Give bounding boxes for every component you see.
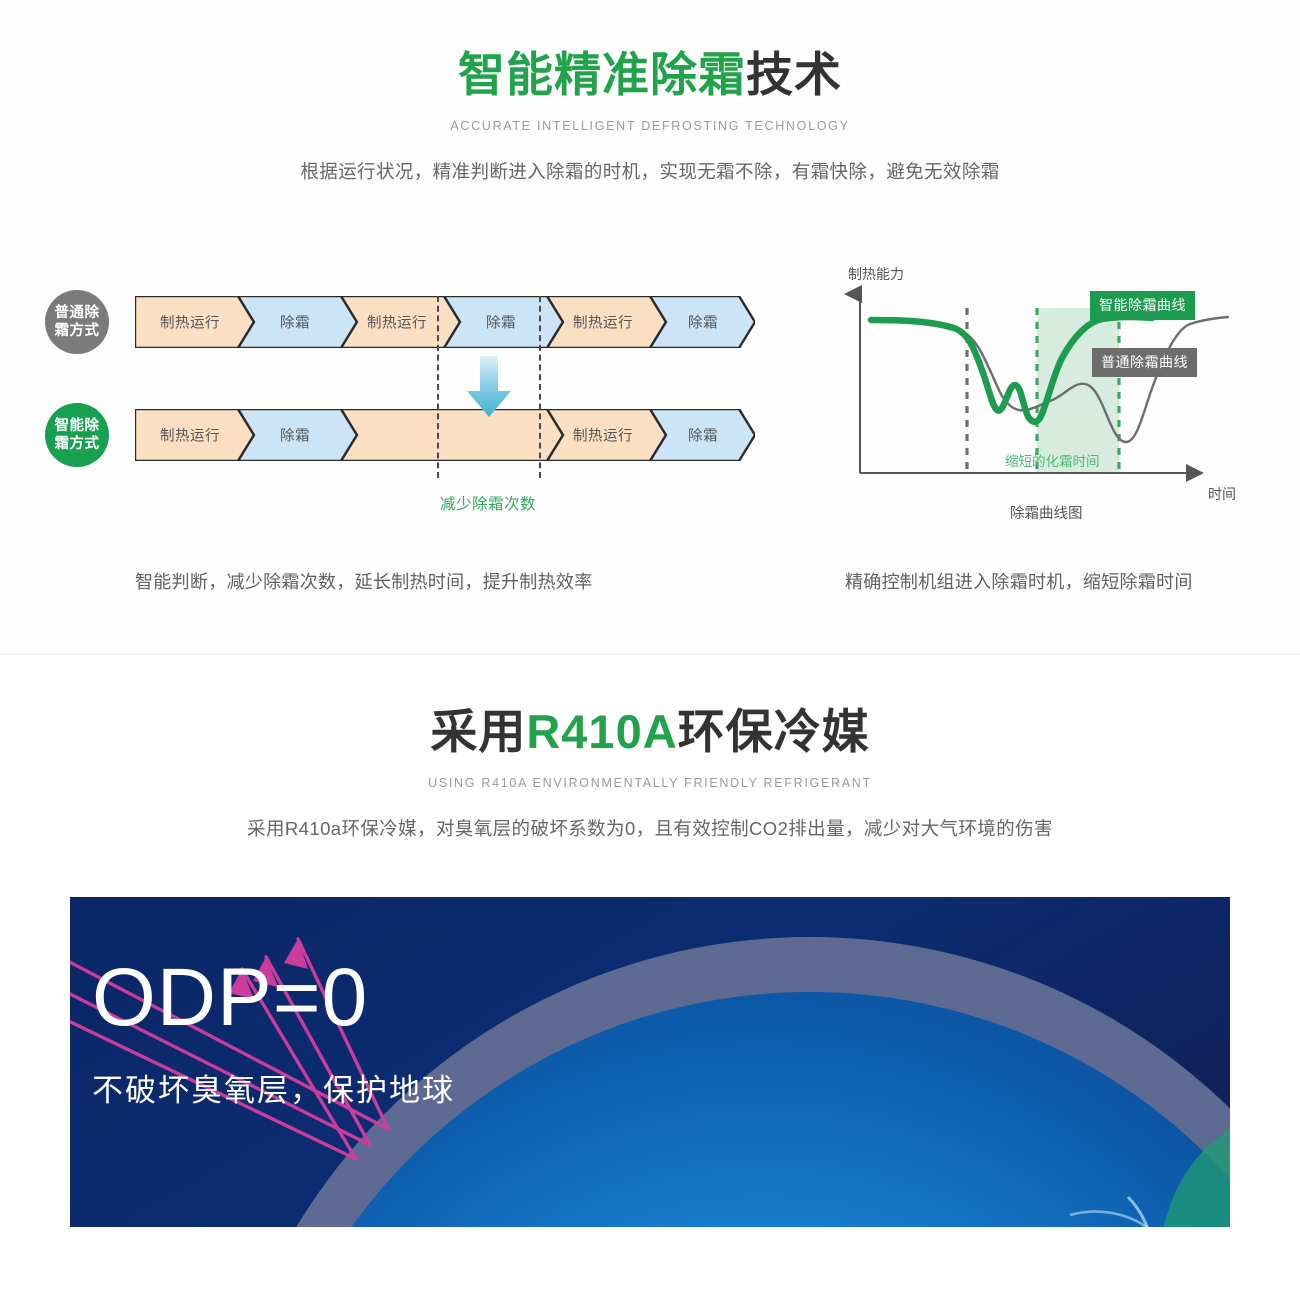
normal-mode-timeline: 制热运行 除霜 制热运行 除霜 制热运行 除霜 (135, 296, 755, 348)
defrost-title-rest: 技术 (746, 48, 842, 101)
odp-text-block: ODP=0 不破坏臭氧层，保护地球 (92, 957, 455, 1110)
smart-mode-timeline: 制热运行 除霜 制热运行 除霜 (135, 409, 755, 461)
normal-segment-label-5: 制热运行 (573, 312, 633, 333)
badge-smart-line2: 霜方式 (55, 435, 100, 453)
defrost-subtitle: ACCURATE INTELLIGENT DEFROSTING TECHNOLO… (0, 119, 1300, 133)
refrigerant-title-rest: 环保冷媒 (678, 705, 870, 758)
defrost-process-diagram: 普通除 霜方式 智能除 霜方式 制热运行 除霜 制热运行 除霜 制热运行 除霜 (0, 260, 790, 530)
defrost-captions-row: 智能判断，减少除霜次数，延长制热时间，提升制热效率 精确控制机组进入除霜时机，缩… (0, 560, 1300, 600)
section-defrost-technology: 智能精准除霜技术 ACCURATE INTELLIGENT DEFROSTING… (0, 0, 1300, 655)
refrigerant-title-pre: 采用 (430, 705, 526, 758)
smart-segment-label-1: 制热运行 (160, 425, 220, 446)
guide-dashed-line-left (437, 296, 439, 478)
chart-plot-area (830, 258, 1270, 508)
smart-timeline-shapes (135, 409, 755, 461)
odp-value-text: ODP=0 (92, 957, 455, 1039)
normal-segment-label-4: 除霜 (486, 312, 516, 333)
defrost-curve-chart: 制热能力 时间 (830, 258, 1270, 533)
guide-dashed-line-right (539, 296, 541, 478)
refrigerant-subtitle: USING R410A ENVIRONMENTALLY FRIENDLY REF… (0, 776, 1300, 790)
smart-segment-label-4: 除霜 (688, 425, 718, 446)
badge-smart-defrost-mode: 智能除 霜方式 (45, 403, 109, 467)
refrigerant-title-accent: R410A (526, 705, 677, 758)
section-r410a-refrigerant: 采用R410A环保冷媒 USING R410A ENVIRONMENTALLY … (0, 655, 1300, 1309)
odp-tagline-text: 不破坏臭氧层，保护地球 (92, 1065, 455, 1110)
badge-normal-line1: 普通除 (55, 304, 100, 322)
legend-normal-defrost-curve: 普通除霜曲线 (1092, 348, 1197, 377)
normal-segment-label-2: 除霜 (280, 312, 310, 333)
normal-segment-label-6: 除霜 (688, 312, 718, 333)
refrigerant-title: 采用R410A环保冷媒 (0, 705, 1300, 759)
caption-defrost-chart: 精确控制机组进入除霜时机，缩短除霜时间 (845, 568, 1193, 594)
badge-smart-line1: 智能除 (55, 417, 100, 435)
refrigerant-description: 采用R410a环保冷媒，对臭氧层的破坏系数为0，且有效控制CO2排出量，减少对大… (0, 815, 1300, 841)
reduce-defrost-count-label: 减少除霜次数 (440, 492, 536, 514)
normal-timeline-shapes (135, 296, 755, 348)
down-arrow-icon (465, 356, 513, 418)
odp-earth-banner: ODP=0 不破坏臭氧层，保护地球 (70, 897, 1230, 1227)
smart-segment-label-3: 制热运行 (573, 425, 633, 446)
legend-smart-defrost-curve: 智能除霜曲线 (1090, 291, 1195, 320)
caption-process-diagram: 智能判断，减少除霜次数，延长制热时间，提升制热效率 (135, 568, 593, 594)
defrost-description: 根据运行状况，精准判断进入除霜的时机，实现无霜不除，有霜快除，避免无效除霜 (0, 158, 1300, 184)
normal-segment-label-3: 制热运行 (367, 312, 427, 333)
defrost-title-accent: 智能精准除霜 (458, 48, 746, 101)
badge-normal-defrost-mode: 普通除 霜方式 (45, 290, 109, 354)
smart-segment-label-2: 除霜 (280, 425, 310, 446)
normal-segment-label-1: 制热运行 (160, 312, 220, 333)
defrost-title: 智能精准除霜技术 (0, 48, 1300, 102)
badge-normal-line2: 霜方式 (55, 322, 100, 340)
chart-title-caption: 除霜曲线图 (1010, 502, 1083, 523)
defrost-heading-block: 智能精准除霜技术 ACCURATE INTELLIGENT DEFROSTING… (0, 0, 1300, 184)
shortened-defrost-time-label: 缩短的化霜时间 (1005, 450, 1100, 470)
refrigerant-heading-block: 采用R410A环保冷媒 USING R410A ENVIRONMENTALLY … (0, 655, 1300, 841)
